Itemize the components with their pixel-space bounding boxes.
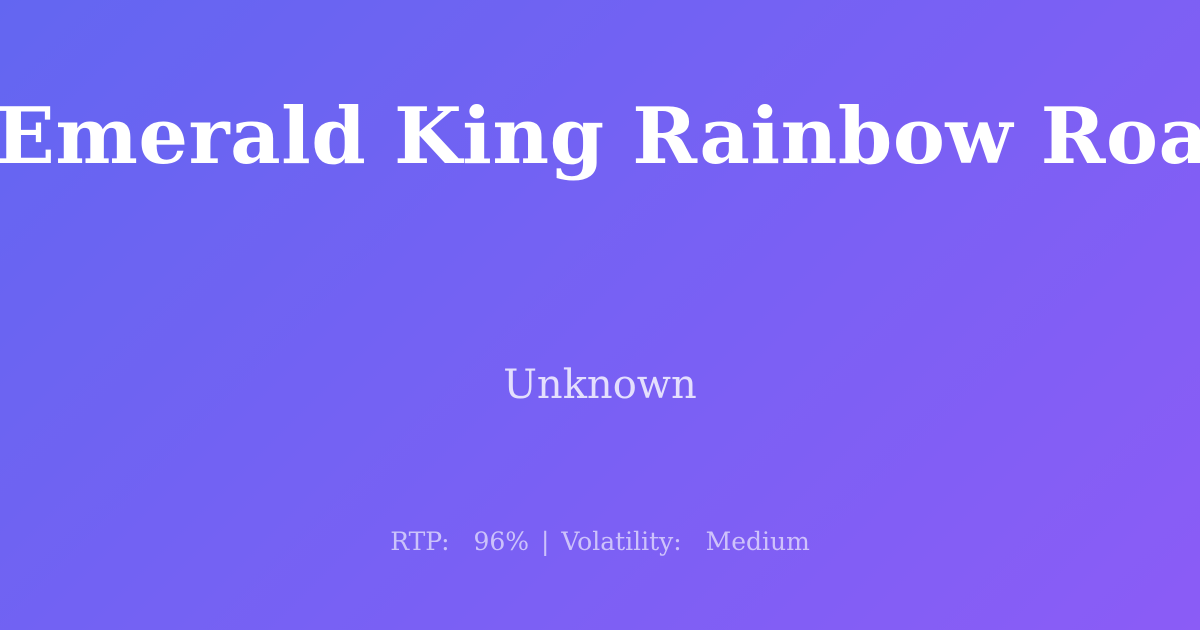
- volatility-value: Medium: [706, 527, 810, 556]
- title-row: 1F3 B0 Emerald King Rainbow Road: [0, 0, 1200, 545]
- game-meta-line: RTP: 96% | Volatility: Medium: [0, 527, 1200, 557]
- title-line: 1F3 B0 Emerald King Rainbow Road: [0, 96, 1200, 177]
- volatility-label: Volatility:: [561, 527, 681, 556]
- page-title: Emerald King Rainbow Road: [0, 96, 1200, 177]
- rtp-label: RTP:: [390, 527, 449, 556]
- page-subtitle: Unknown: [0, 363, 1200, 407]
- meta-separator: |: [537, 527, 553, 556]
- rtp-value: 96%: [473, 527, 529, 556]
- og-preview-card: 1F3 B0 Emerald King Rainbow Road Unknown…: [0, 0, 1200, 630]
